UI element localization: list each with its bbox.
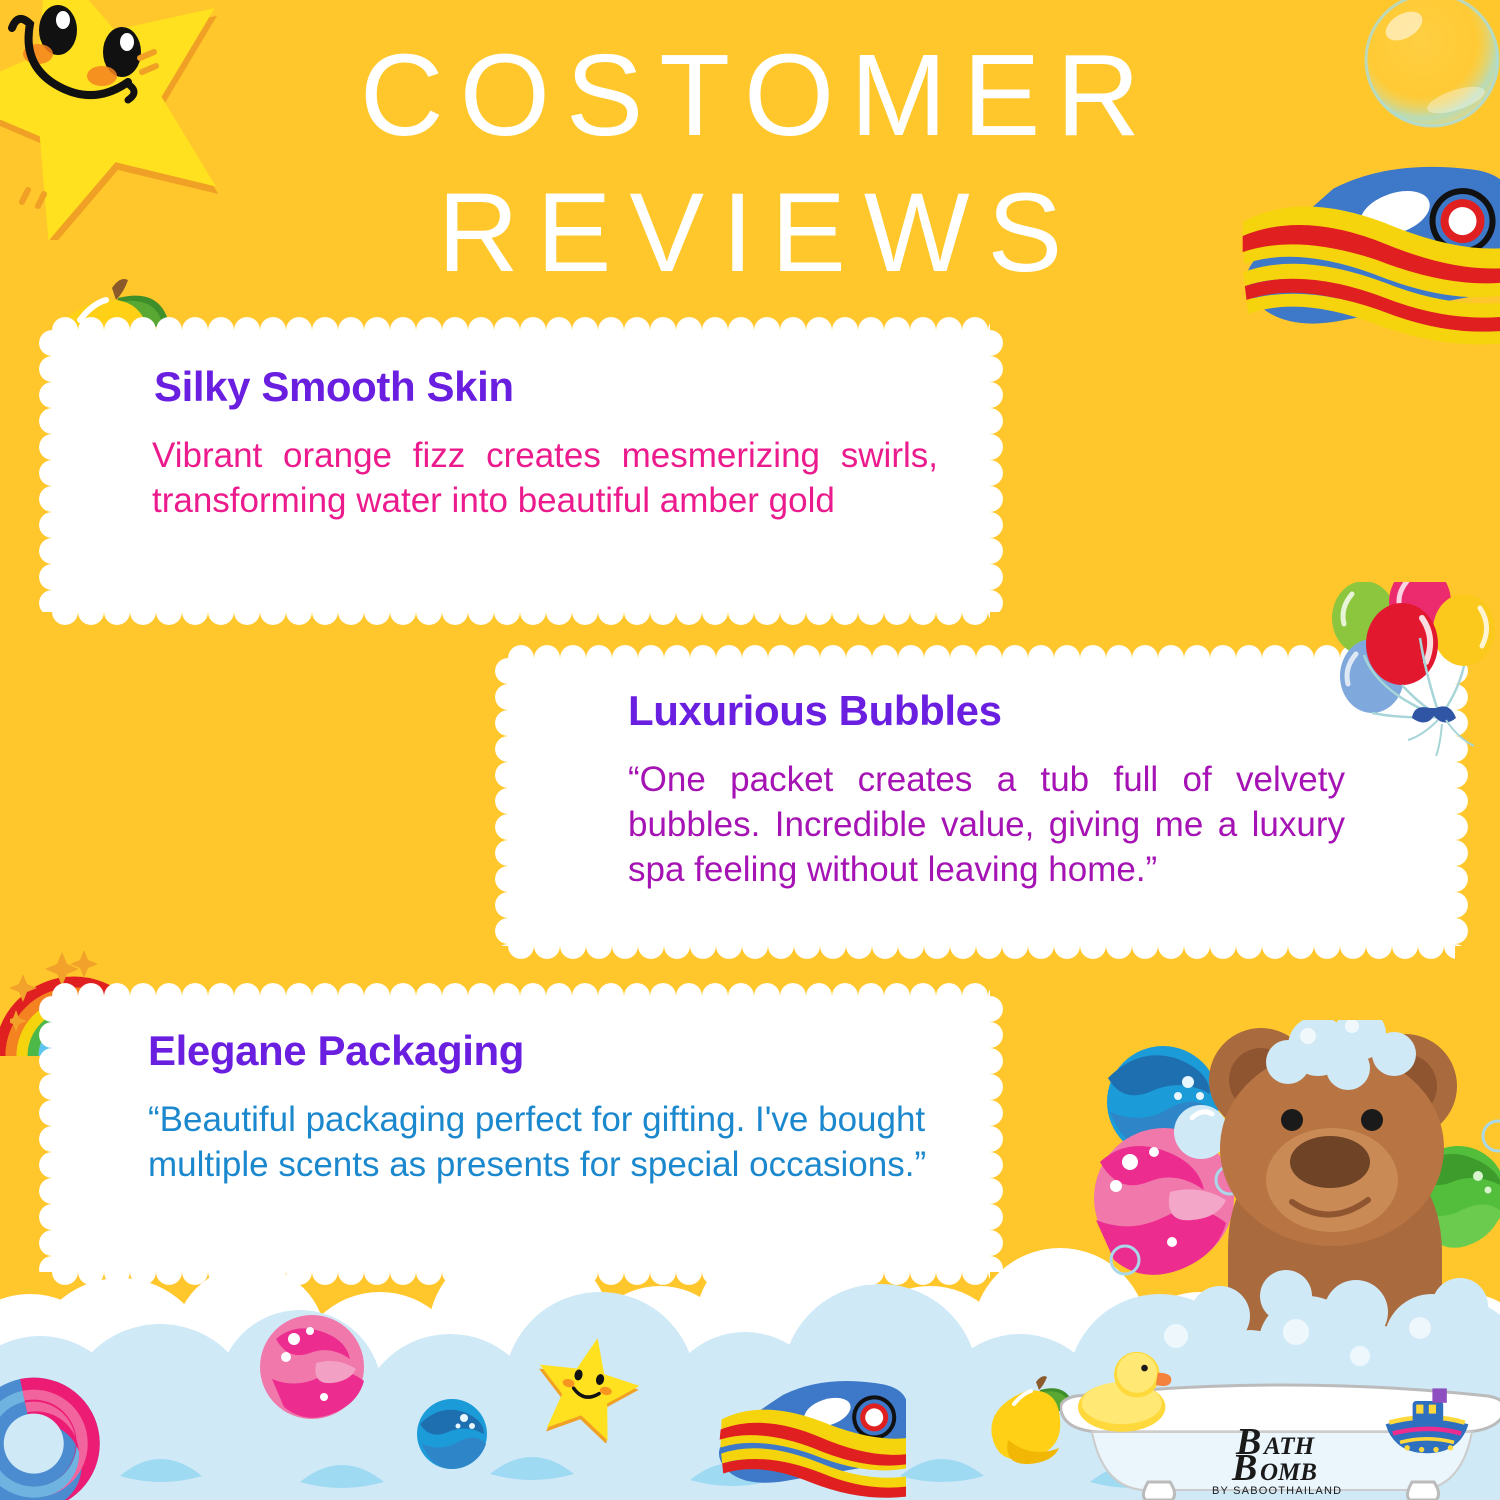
svg-text:BY SABOOTHAILAND: BY SABOOTHAILAND: [1212, 1485, 1342, 1497]
soap-bubble-icon: [1360, 0, 1500, 142]
balloons-icon: [1312, 582, 1500, 757]
review-card-1: Silky Smooth Skin Vibrant orange fizz cr…: [52, 330, 990, 612]
review-body-1: Vibrant orange fizz creates mesmerizing …: [152, 434, 938, 524]
bath-bomb-pink-icon: [258, 1313, 366, 1421]
review-heading-2: Luxurious Bubbles: [628, 690, 1345, 732]
svg-text:OMB: OMB: [1260, 1459, 1317, 1486]
review-card-3: Elegane Packaging “Beautiful packaging p…: [52, 996, 990, 1272]
review-body-3: “Beautiful packaging perfect for gifting…: [148, 1098, 930, 1188]
bath-bomb-blue-icon: [416, 1398, 488, 1470]
poster-canvas: Silky Smooth Skin Vibrant orange fizz cr…: [0, 0, 1500, 1500]
smiling-star-icon: [532, 1333, 642, 1443]
pool-float-icon: [0, 1368, 126, 1500]
toy-boat-icon: [1240, 160, 1500, 350]
review-body-2: “One packet creates a tub full of velvet…: [628, 758, 1345, 892]
teddy-bear-in-bathtub-icon: B ATH B OMB BY SABOOTHAILAND: [1060, 1020, 1500, 1500]
smiling-star-icon: [0, 0, 242, 240]
toy-boat-icon: [718, 1378, 906, 1498]
review-heading-3: Elegane Packaging: [148, 1030, 930, 1072]
review-heading-1: Silky Smooth Skin: [154, 366, 938, 408]
svg-text:ATH: ATH: [1262, 1433, 1316, 1460]
svg-text:B: B: [1231, 1447, 1257, 1489]
